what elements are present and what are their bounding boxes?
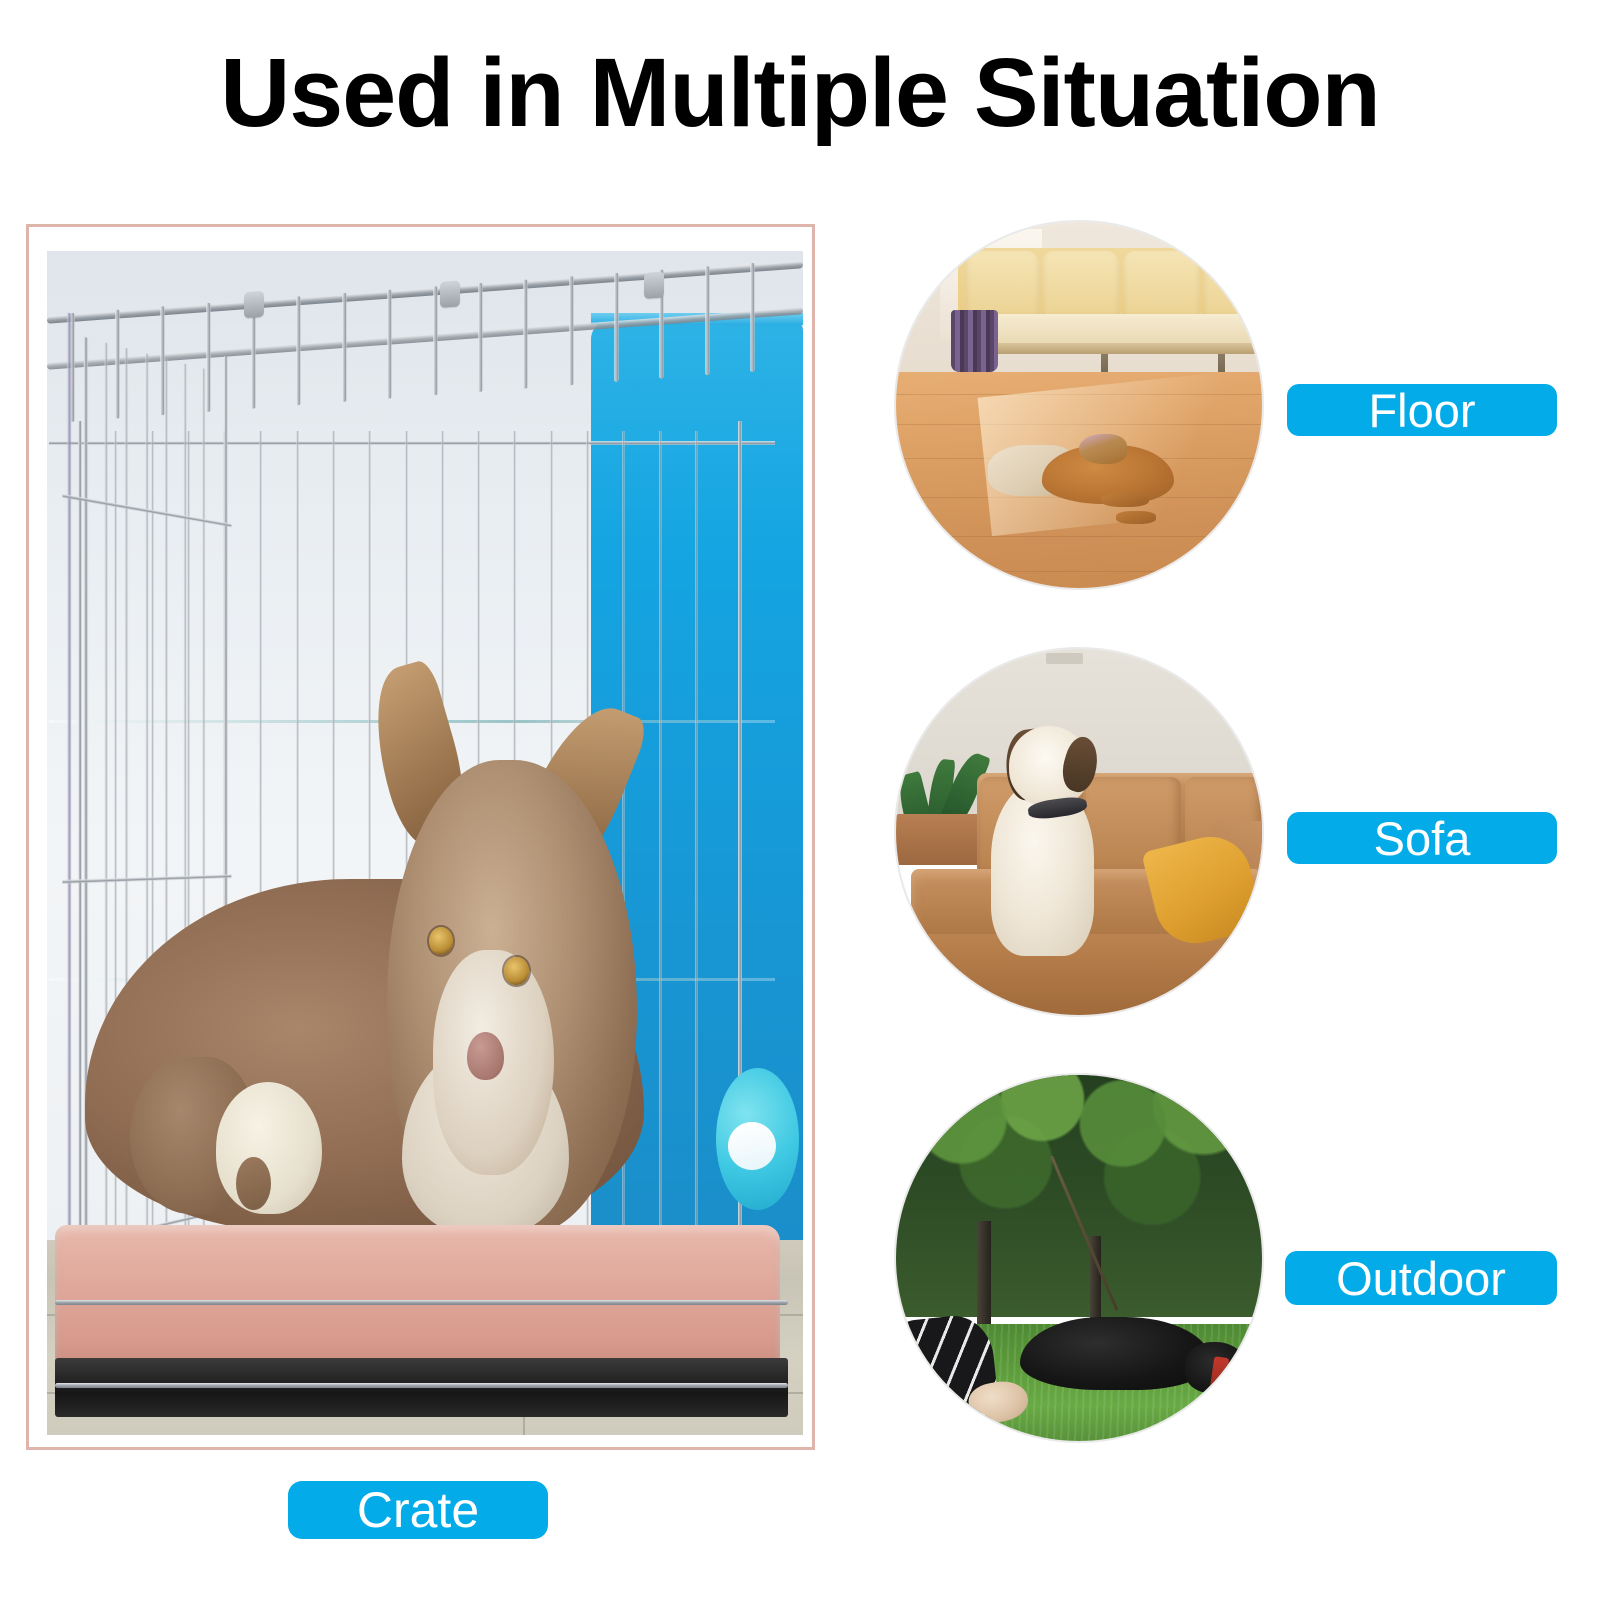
sofa-photo [896, 649, 1262, 1015]
situation-sofa[interactable] [896, 649, 1262, 1015]
crate-image-frame [26, 224, 815, 1450]
crate-front-rail [55, 1300, 788, 1305]
plush-toy [130, 1050, 334, 1228]
crate-photo [47, 251, 803, 1435]
page-title: Used in Multiple Situation [0, 44, 1600, 141]
dog-nose [467, 1032, 505, 1079]
situation-floor[interactable] [896, 222, 1262, 588]
crate-bottom-rail [55, 1383, 788, 1388]
situation-outdoor[interactable] [896, 1075, 1262, 1441]
blue-ball-toy [716, 1068, 799, 1210]
outdoor-photo [896, 1075, 1262, 1441]
label-sofa[interactable]: Sofa [1287, 812, 1557, 864]
floor-photo [896, 222, 1262, 588]
label-outdoor[interactable]: Outdoor [1285, 1251, 1557, 1305]
dog-eye-right [504, 957, 528, 985]
label-floor[interactable]: Floor [1287, 384, 1557, 436]
crate-tray [55, 1358, 788, 1417]
label-crate[interactable]: Crate [288, 1481, 548, 1539]
